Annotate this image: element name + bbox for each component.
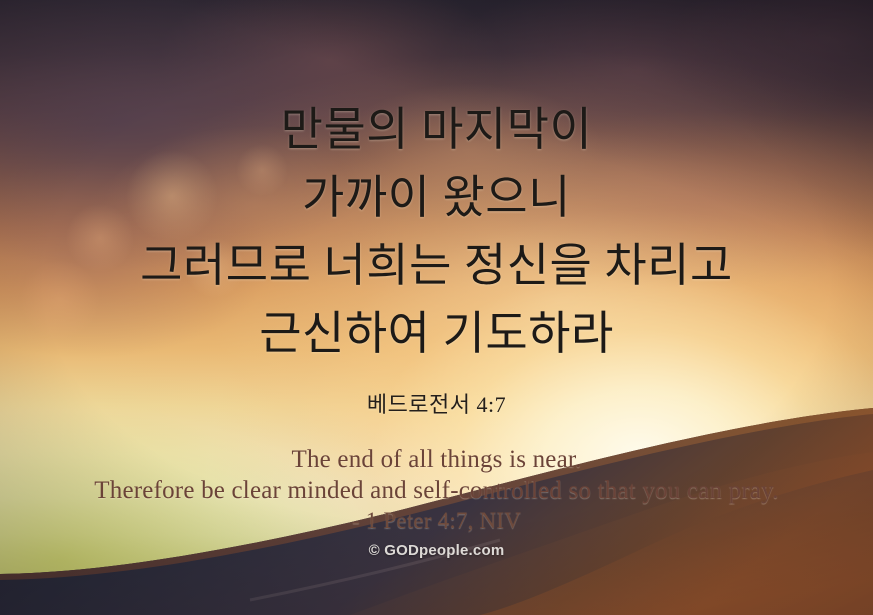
english-verse-block: The end of all things is near. Therefore… [0,444,873,536]
copyright-icon: © [369,542,380,559]
korean-verse-line-3: 그러므로 너희는 정신을 차리고 [0,232,873,300]
korean-verse-line-4: 근신하여 기도하라 [0,300,873,368]
korean-verse-block: 만물의 마지막이 가까이 왔으니 그러므로 너희는 정신을 차리고 근신하여 기… [0,96,873,368]
watermark-text: GODpeople.com [384,542,504,559]
verse-image: 만물의 마지막이 가까이 왔으니 그러므로 너희는 정신을 차리고 근신하여 기… [0,0,873,615]
english-verse-attribution: - 1 Peter 4:7, NIV [0,506,873,536]
korean-verse-line-2: 가까이 왔으니 [0,164,873,232]
watermark: © GODpeople.com [0,542,873,559]
korean-verse-line-1: 만물의 마지막이 [0,96,873,164]
english-verse-line-1: The end of all things is near. [0,444,873,475]
english-verse-line-2: Therefore be clear minded and self-contr… [0,475,873,506]
korean-verse-reference: 베드로전서 4:7 [0,387,873,419]
